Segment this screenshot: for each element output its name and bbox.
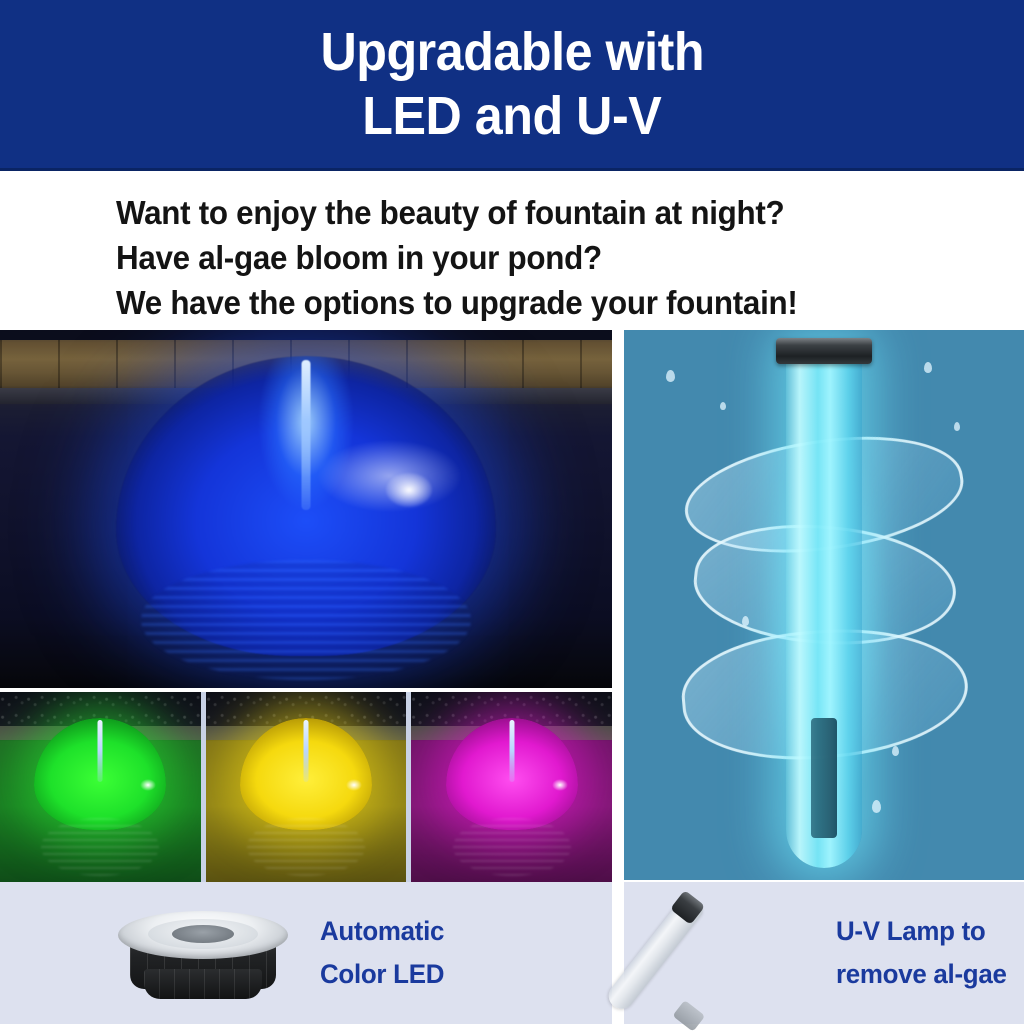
photo-grid [0,330,1024,882]
caption-led-line-2: Color LED [320,953,444,996]
caption-uv-line-2: remove al-gae [836,953,1007,996]
uv-lamp-photo [624,330,1024,880]
subtitle-line-2: Have al-gae bloom in your pond? [116,235,979,280]
water-droplet [666,370,675,382]
banner-title-line-2: LED and U-V [362,84,661,148]
color-thumbnail-row [0,692,612,882]
header-banner: Upgradable with LED and U-V [0,0,1024,171]
uv-glass-tube [786,344,862,868]
water-reflection [247,818,365,876]
water-droplet [872,800,881,813]
caption-uv-text: U-V Lamp to remove al-gae [836,910,1014,996]
water-reflection [453,818,571,876]
water-droplet [720,402,726,410]
uv-tube-cap [776,338,872,364]
thumbnail-green-dome [0,692,201,882]
subtitle-line-3: We have the options to upgrade your foun… [116,280,979,325]
puck-skirt [144,969,262,999]
uv-lamp-tube-icon [662,898,812,1008]
water-reflection [41,818,159,876]
caption-uv-line-1: U-V Lamp to [836,910,1007,953]
uv-inner-element [811,718,837,838]
caption-led-text: Automatic Color LED [320,910,449,996]
hero-photo-blue-dome-fountain [0,330,612,688]
subtitle-block: Want to enjoy the beauty of fountain at … [0,174,1024,330]
caption-led-line-1: Automatic [320,910,444,953]
caption-uv: U-V Lamp to remove al-gae [624,882,1024,1024]
uv-photo-column [624,330,1024,880]
banner-title-line-1: Upgradable with [320,20,704,84]
water-droplet [892,746,899,756]
subtitle-line-1: Want to enjoy the beauty of fountain at … [116,190,979,235]
water-highlight [386,473,432,507]
thumbnail-yellow-dome [206,692,407,882]
lamp-tube-base [672,1000,705,1032]
caption-strip: Automatic Color LED U-V Lamp to remove a… [0,882,1024,1024]
thumbnail-magenta-dome [411,692,612,882]
puck-lens-hole [172,925,234,943]
led-photo-column [0,330,612,882]
product-feature-infographic: Upgradable with LED and U-V Want to enjo… [0,0,1024,1024]
caption-led: Automatic Color LED [0,882,612,1024]
water-droplet [954,422,960,431]
water-droplet [924,362,932,373]
water-droplet [742,616,749,626]
led-puck-light-icon [108,903,298,1003]
water-reflection [141,560,471,680]
